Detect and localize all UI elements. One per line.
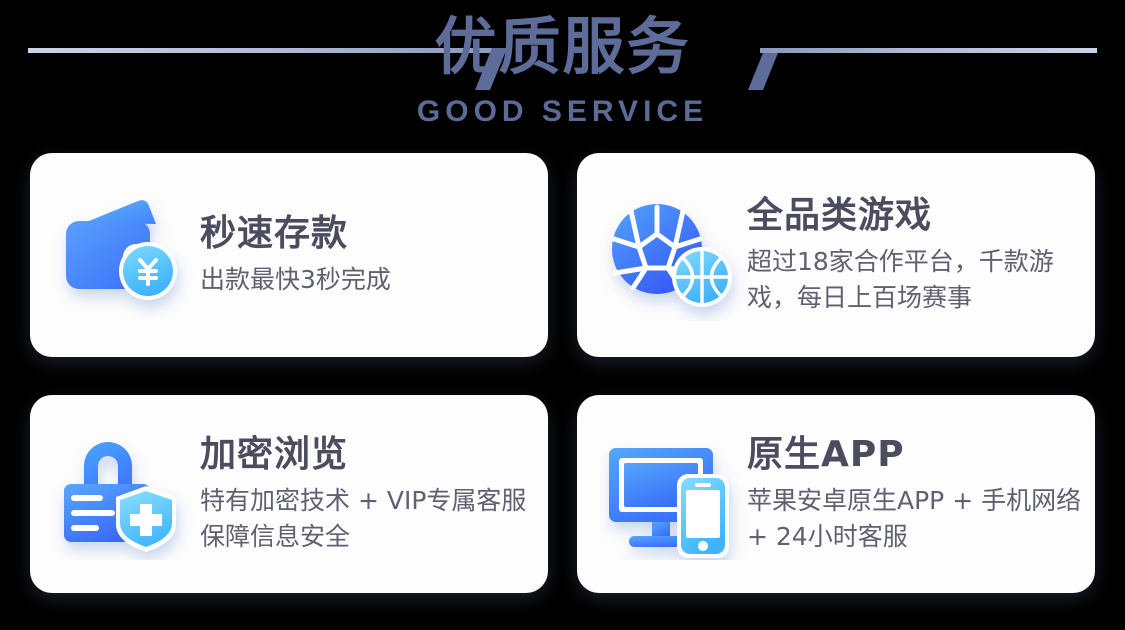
monitor-phone-icon [599, 428, 747, 560]
soccer-basketball-icon [599, 189, 747, 321]
feature-card-deposit[interactable]: 秒速存款 出款最快3秒完成 [30, 153, 548, 357]
feature-card-native-app[interactable]: 原生APP 苹果安卓原生APP + 手机网络 + 24小时客服 [577, 395, 1095, 593]
card-title: 原生APP [747, 433, 1085, 477]
card-text-block: 原生APP 苹果安卓原生APP + 手机网络 + 24小时客服 [747, 433, 1095, 555]
feature-card-encryption[interactable]: 加密浏览 特有加密技术 + VIP专属客服保障信息安全 [30, 395, 548, 593]
lock-shield-icon [52, 428, 200, 560]
card-text-block: 加密浏览 特有加密技术 + VIP专属客服保障信息安全 [200, 433, 548, 555]
card-text-block: 秒速存款 出款最快3秒完成 [200, 212, 548, 298]
header-rule-right [760, 48, 1097, 53]
wallet-yen-icon [52, 189, 200, 321]
card-description: 苹果安卓原生APP + 手机网络 + 24小时客服 [747, 483, 1085, 555]
page-header: 优质服务 GOOD SERVICE [0, 0, 1125, 148]
card-title: 秒速存款 [200, 212, 538, 256]
feature-card-grid: 秒速存款 出款最快3秒完成 [30, 153, 1095, 593]
card-description: 特有加密技术 + VIP专属客服保障信息安全 [200, 483, 538, 555]
card-description: 出款最快3秒完成 [200, 262, 538, 298]
page-title: 优质服务 [0, 4, 1125, 90]
feature-card-games[interactable]: 全品类游戏 超过18家合作平台，千款游戏，每日上百场赛事 [577, 153, 1095, 357]
card-text-block: 全品类游戏 超过18家合作平台，千款游戏，每日上百场赛事 [747, 194, 1095, 316]
card-title: 加密浏览 [200, 433, 538, 477]
card-description: 超过18家合作平台，千款游戏，每日上百场赛事 [747, 244, 1085, 316]
card-title: 全品类游戏 [747, 194, 1085, 238]
page-subtitle: GOOD SERVICE [0, 95, 1125, 129]
